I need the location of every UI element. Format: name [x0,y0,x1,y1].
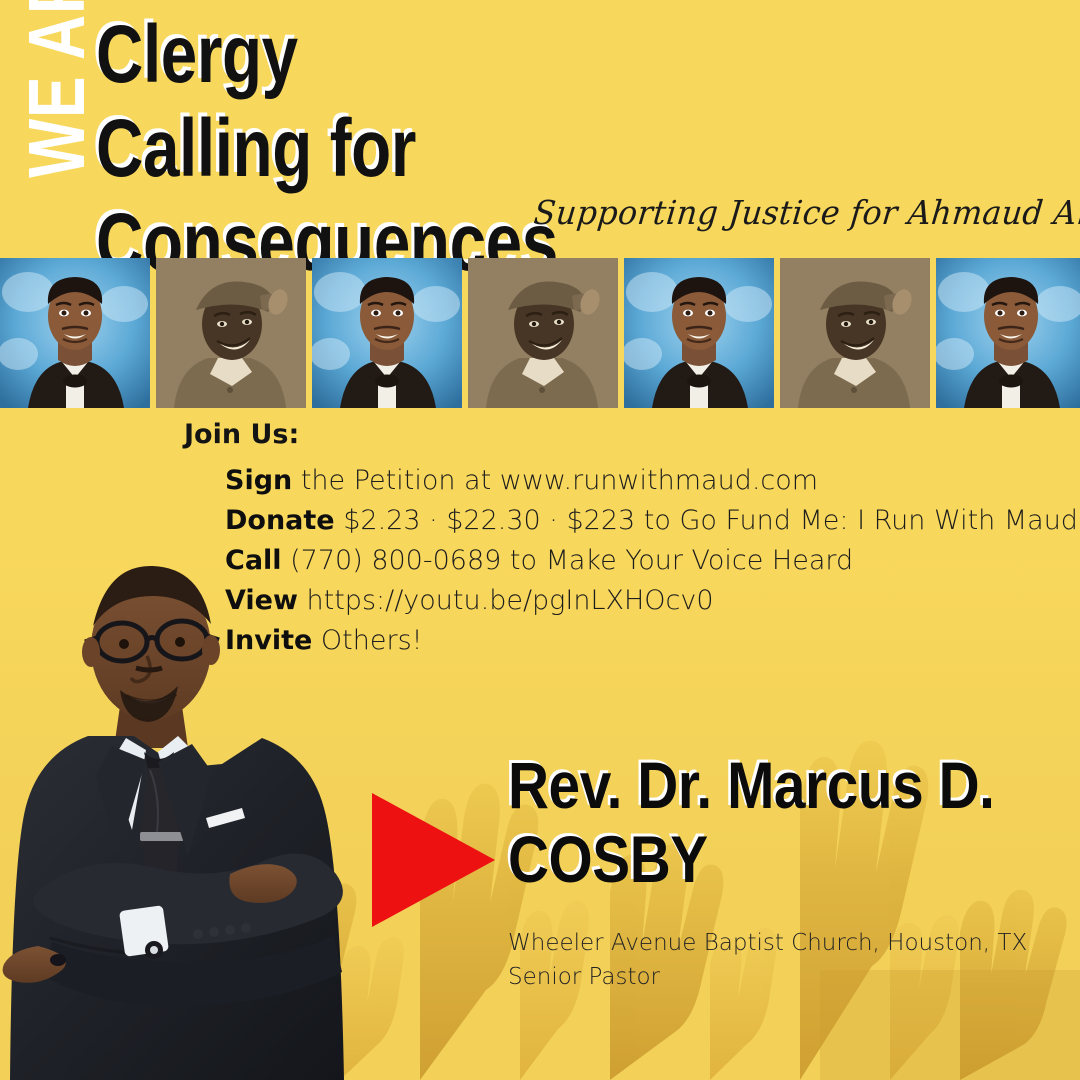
portrait-tile-sepia [156,258,306,408]
item-keyword: Donate [225,505,335,536]
item-keyword: View [225,585,298,616]
list-item: Call (770) 800-0689 to Make Your Voice H… [225,541,1080,581]
headline-line-2: Calling for [96,108,880,190]
join-us-title: Join Us: [184,418,1080,452]
item-text: https://youtu.be/pgInLXHOcv0 [298,585,714,616]
script-tagline: Supporting Justice for Ahmaud Arbery [532,193,1080,233]
portrait-photo-strip [0,258,1080,408]
list-item: View https://youtu.be/pgInLXHOcv0 [225,581,1080,621]
speaker-role: Senior Pastor [508,960,1080,994]
item-keyword: Invite [225,625,312,656]
item-text: the Petition at www.runwithmaud.com [292,465,818,496]
play-triangle-icon[interactable] [372,793,495,927]
portrait-tile-tuxedo [936,258,1080,408]
speaker-name-line-1: Rev. Dr. Marcus D. [508,748,1000,822]
eyebrow-we-are: WE ARE [9,0,105,178]
headline-line-1: Clergy [96,14,880,96]
item-text: Others! [312,625,422,656]
portrait-tile-tuxedo [312,258,462,408]
portrait-tile-tuxedo [0,258,150,408]
speaker-affiliation: Wheeler Avenue Baptist Church, Houston, … [508,926,1080,960]
item-text: $2.23 · $22.30 · $223 to Go Fund Me: I R… [335,505,1078,536]
list-item: Sign the Petition at www.runwithmaud.com [225,461,1080,501]
speaker-name-line-2: COSBY [508,822,1000,896]
headline: Clergy Calling for Consequences [96,6,1076,287]
join-us-list: Sign the Petition at www.runwithmaud.com… [184,461,1080,661]
item-keyword: Sign [225,465,292,496]
speaker-block: Rev. Dr. Marcus D. COSBY Wheeler Avenue … [508,748,1080,994]
list-item: Donate $2.23 · $22.30 · $223 to Go Fund … [225,501,1080,541]
call-to-action-block: Join Us: Sign the Petition at www.runwit… [184,418,1080,661]
portrait-tile-sepia [780,258,930,408]
poster-canvas: WE ARE Clergy Calling for Consequences S… [0,0,1080,1080]
portrait-tile-tuxedo [624,258,774,408]
item-text: (770) 800-0689 to Make Your Voice Heard [282,545,854,576]
list-item: Invite Others! [225,621,1080,661]
portrait-tile-sepia [468,258,618,408]
item-keyword: Call [225,545,282,576]
